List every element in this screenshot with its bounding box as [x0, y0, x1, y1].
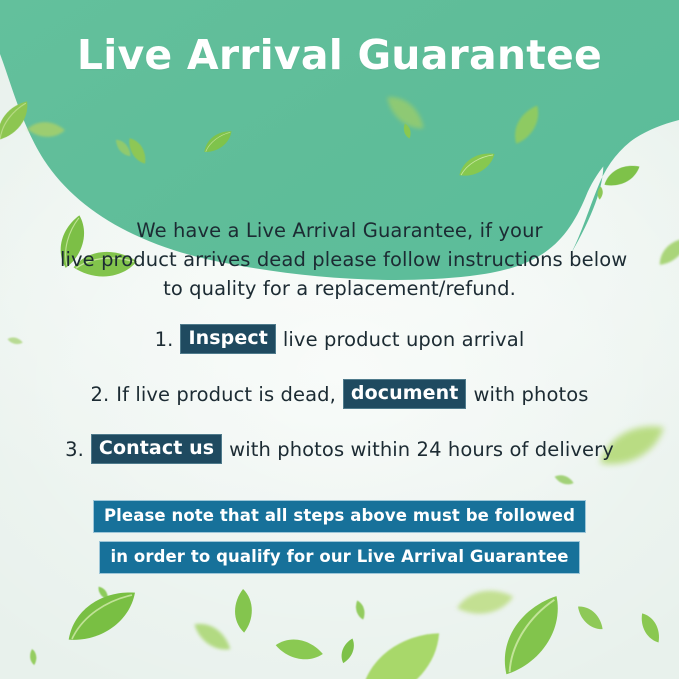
step-badge-inspect[interactable]: Inspect — [180, 324, 275, 354]
footer-note-line-2: in order to qualify for our Live Arrival… — [99, 541, 579, 574]
step-badge-contact-us[interactable]: Contact us — [91, 434, 222, 464]
step-lead-2: If live product is dead, — [116, 383, 336, 406]
intro-line-3: to quality for a replacement/refund. — [60, 274, 619, 303]
step-number-1: 1. — [155, 328, 174, 351]
intro-paragraph: We have a Live Arrival Guarantee, if you… — [60, 216, 619, 303]
step-item-1: 1. Inspect live product upon arrival — [0, 320, 679, 358]
step-number-3: 3. — [65, 438, 84, 461]
content-area: We have a Live Arrival Guarantee, if you… — [0, 0, 679, 679]
step-item-2: 2. If live product is dead, document wit… — [0, 375, 679, 413]
page-title: Live Arrival Guarantee — [0, 33, 679, 78]
footer-note: Please note that all steps above must be… — [0, 500, 679, 574]
intro-line-2: live product arrives dead please follow … — [60, 245, 619, 274]
steps-list: 1. Inspect live product upon arrival 2. … — [0, 320, 679, 485]
live-arrival-guarantee-poster: Live Arrival Guarantee We have a Live Ar… — [0, 0, 679, 679]
step-text-1: live product upon arrival — [283, 328, 524, 351]
intro-line-1: We have a Live Arrival Guarantee, if you… — [60, 216, 619, 245]
footer-note-line-1: Please note that all steps above must be… — [93, 500, 586, 533]
step-badge-document[interactable]: document — [343, 379, 467, 409]
step-number-2: 2. — [90, 383, 109, 406]
step-text-2: with photos — [473, 383, 588, 406]
step-text-3: with photos within 24 hours of delivery — [229, 438, 614, 461]
step-item-3: 3. Contact us with photos within 24 hour… — [0, 430, 679, 468]
